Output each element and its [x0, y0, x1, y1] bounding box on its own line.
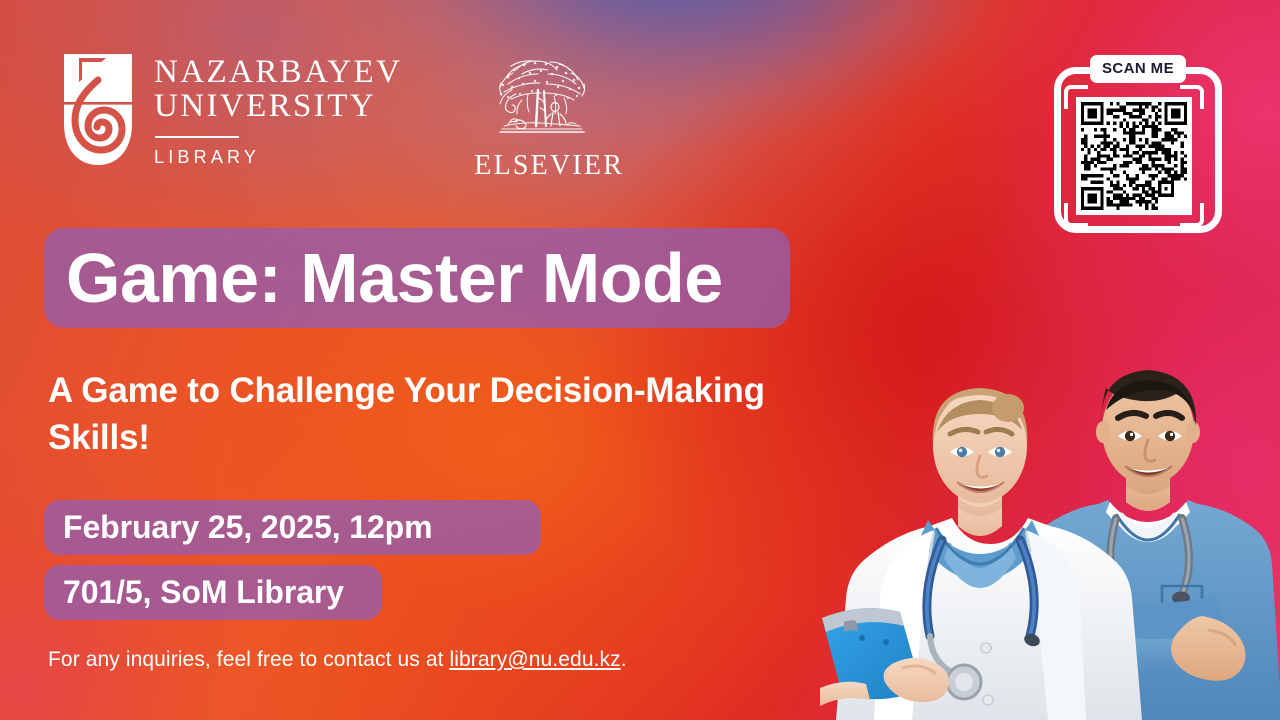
contact-email-link[interactable]: library@nu.edu.kz — [449, 648, 620, 671]
qr-code-image[interactable] — [1076, 97, 1192, 215]
nazarbayev-university-library-logo: NAZARBAYEV UNIVERSITY LIBRARY — [62, 52, 402, 168]
medical-professionals-illustration — [810, 290, 1280, 720]
medical-professionals-photo — [810, 290, 1280, 720]
logo-row: NAZARBAYEV UNIVERSITY LIBRARY — [62, 52, 609, 182]
qr-code-block[interactable]: SCAN ME — [1054, 55, 1222, 233]
qr-inner-area — [1076, 97, 1192, 215]
nu-wordmark: NAZARBAYEV UNIVERSITY LIBRARY — [154, 52, 402, 168]
scan-me-label: SCAN ME — [1090, 55, 1186, 83]
nu-divider-rule — [155, 136, 239, 138]
page-title: Game: Master Mode — [66, 236, 826, 320]
contact-suffix: . — [621, 648, 627, 671]
event-location-badge: 701/5, SoM Library — [44, 565, 382, 620]
elsevier-wordmark: ELSEVIER — [474, 150, 609, 182]
nazarbayev-university-shanyrak-mark-icon — [62, 52, 134, 167]
nu-name-line1: NAZARBAYEV — [154, 55, 402, 89]
event-date-badge: February 25, 2025, 12pm — [44, 500, 541, 555]
contact-line: For any inquiries, feel free to contact … — [48, 648, 627, 672]
nu-name-line2: UNIVERSITY — [154, 89, 402, 123]
nu-sub-library: LIBRARY — [154, 147, 402, 168]
elsevier-logo: ELSEVIER — [474, 52, 609, 182]
elsevier-non-solus-tree-icon — [478, 54, 606, 146]
female-doctor — [820, 388, 1142, 720]
subtitle: A Game to Challenge Your Decision-Making… — [48, 367, 868, 461]
event-poster: NAZARBAYEV UNIVERSITY LIBRARY — [0, 0, 1280, 720]
contact-prefix: For any inquiries, feel free to contact … — [48, 648, 449, 671]
